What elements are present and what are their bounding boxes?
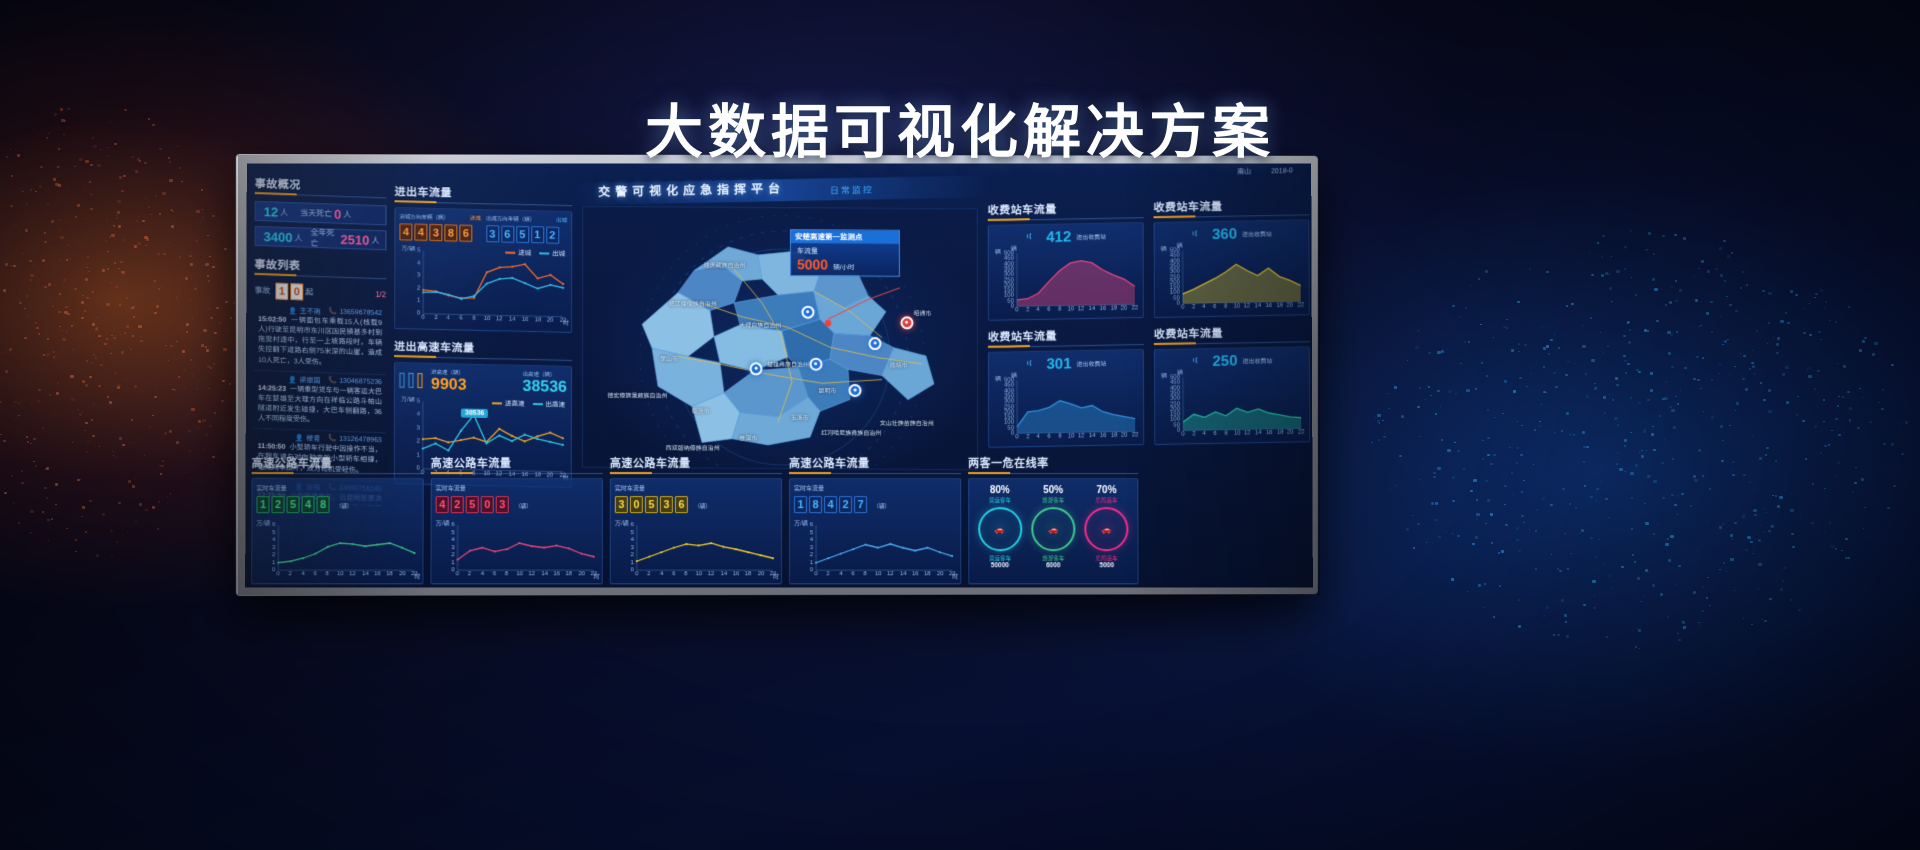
y-tick: 0 [1011,303,1014,309]
highway-out-value: 38536 [522,378,567,397]
y-tick: 0 [630,567,633,573]
highway-flow-sub: 实时车流量 [615,483,645,492]
digit: 8 [444,224,457,241]
accident-count-unit: 起 [305,286,313,297]
online-rate-gauge: 70% 危险品车 🚗 危险品车 5000 [1085,485,1129,577]
gauge-percent: 70% [1085,485,1129,496]
x-tick: 4 [481,571,484,577]
digit: 3 [496,496,509,513]
x-tick: 14 [1088,306,1095,312]
digit: 4 [399,223,412,240]
y-tick: 2 [272,552,275,558]
signal-icon [1025,358,1041,370]
toll-station-card: 250 进出收费站 辆 5004504003503002502001501005… [1154,346,1310,445]
y-unit: 万/辆 [256,518,270,527]
x-tick: 8 [326,571,329,577]
legend-item: 出城 [539,247,565,258]
y-unit: 辆 [995,247,1001,256]
y-tick: 1 [451,560,454,566]
x-tick: 16 [522,317,529,323]
gauge-count: 50000 [978,562,1022,569]
stat-row-today: 12 人 当天死亡 0 人 [255,201,387,225]
highway-flow-card: 实时车流量 18427 （辆） 654321002468101214161820… [789,478,961,584]
x-tick: 8 [472,316,475,322]
highway-flow-panel: 高速公路车流量 实时车流量 42503 （辆） 6543210024681012… [430,455,602,584]
toll-station-panel: 收费站车流量 360 进出收费站 辆 500450400350300250200… [1153,196,1309,317]
toll-station-card: 412 进出收费站 辆 5004504003503002502001501005… [988,222,1144,321]
x-tick: 4 [1202,304,1205,310]
toll-station-chart: 5004504003503002502001501005000246810121… [993,247,1139,317]
highway-flow-sub: 实时车流量 [436,483,466,492]
digit: 2 [546,227,559,244]
highway-flow-digits: 18427 （辆） [794,495,956,513]
digit: 1 [256,496,269,513]
x-tick: 16 [374,571,381,577]
map-label: 曲靖市 [890,360,908,369]
x-tick: 18 [1110,306,1117,312]
highway-flow-sub: 实时车流量 [794,483,824,492]
accident-count-row: 事故 10 起 1/2 [254,281,386,303]
in-out-flow-card: 进城方向车辆（辆） 进城 44386 出城方向车辆（辆） 出城 36512 [394,207,572,333]
toll-station-panel: 收费站车流量 250 进出收费站 辆 500450400350300250200… [1154,323,1310,445]
map-label: 德宏傣族景颇族自治州 [607,390,667,399]
x-tick: 8 [1058,307,1061,313]
x-axis: 0246810121416182022 [278,571,418,581]
x-tick: 20 [1121,432,1128,438]
x-tick: 14 [1089,433,1096,439]
highway-flow-card: 实时车流量 30536 （辆） 654321002468101214161820… [610,478,782,584]
x-tick: 2 [647,571,650,577]
map-label: 玉溪市 [791,412,809,421]
x-tick: 6 [493,571,496,577]
y-unit: 万/辆 [615,518,629,527]
x-tick: 12 [349,571,356,577]
screenshot-stage: 大数据可视化解决方案 交警可视化应急指挥平台 日常监控 南山 2018-0 事故… [0,0,1920,850]
gauge-percent: 80% [978,485,1022,496]
chart-legend: 进城出城 [505,247,565,258]
y-axis: 543210 [399,246,421,312]
digit: 8 [317,496,330,513]
metric-highway-in: 进高速（辆） 9903 [431,368,467,395]
year-injured-value: 3400 [264,229,293,245]
x-tick: 18 [535,317,542,323]
y-unit: 万/辆 [401,243,415,252]
toll-station-value: 301 [1046,355,1071,372]
x-tick: 12 [1243,303,1250,309]
x-tick: 10 [337,571,344,577]
toll-station-panel: 收费站车流量 301 进出收费站 辆 500450400350300250200… [988,326,1144,448]
x-tick: 0 [1181,304,1184,310]
x-tick: 10 [1068,433,1075,439]
x-tick: 4 [1203,431,1206,437]
x-tick: 0 [1182,431,1185,437]
highway-flow-card: 实时车流量 42503 （辆） 654321002468101214161820… [430,478,602,584]
toll-station-grid: 收费站车流量 412 进出收费站 辆 500450400350300250200… [988,196,1311,447]
toll-station-panel: 收费站车流量 412 进出收费站 辆 500450400350300250200… [988,199,1144,320]
curved-video-wall: 交警可视化应急指挥平台 日常监控 南山 2018-0 事故概况 12 人 当天死… [238,155,1320,595]
y-axis: 500450400350300250200150100500 [1159,373,1181,429]
x-tick: 2 [1026,307,1029,313]
y-tick: 5 [630,530,633,536]
x-tick: 16 [1099,306,1106,312]
province-map-svg [582,206,978,470]
accident-list-title: 事故列表 [254,256,386,279]
highway-flow-title: 高速公路车流量 [252,455,424,474]
toll-station-label: 进出收费站 [1242,356,1272,366]
toll-station-value: 360 [1212,226,1237,243]
y-tick: 3 [451,545,454,551]
map-tooltip: 安楚高速第一监测点 车流量 5000 辆/小时 [790,229,900,277]
toll-station-title: 收费站车流量 [1154,323,1310,345]
x-tick: 16 [1100,433,1107,439]
map-tooltip-value: 5000 [797,256,828,272]
online-rate-panel: 两客一危在线率 80% 营运客车 🚗 营运客车 50000 50% 旅游客车 🚗 [968,455,1138,584]
x-tick: 4 [839,571,842,577]
today-injured-unit: 人 [280,206,288,217]
highway-flow-panel: 高速公路车流量 实时车流量 18427 （辆） 6543210024681012… [789,455,961,584]
year-injured-unit: 人 [294,232,302,243]
highway-flow-digits: 42503 （辆） [436,495,598,513]
x-tick: 12 [1244,430,1251,436]
metric-in-tag: 进城 [470,214,481,222]
y-tick: 3 [630,545,633,551]
signal-icon [1191,229,1207,241]
y-tick: 4 [272,537,275,543]
y-tick: 4 [451,537,454,543]
x-tick: 6 [314,571,317,577]
gate-icon [399,371,425,390]
toll-station-title: 收费站车流量 [988,326,1144,348]
digit: 5 [466,496,479,513]
y-unit: 万/辆 [401,394,415,403]
online-rate-gauge: 50% 旅游客车 🚗 旅游客车 6000 [1031,485,1075,577]
x-tick: 0 [635,571,638,577]
x-tick: 12 [528,571,535,577]
y-axis: 500450400350300250200150100500 [993,376,1015,432]
digit: 6 [501,226,514,243]
x-unit: 时 [414,571,420,580]
y-tick: 0 [451,567,454,573]
toll-station-title: 收费站车流量 [1153,196,1309,218]
x-tick: 14 [900,571,907,577]
highway-flow-unit: （辆） [874,504,891,510]
x-tick: 18 [1276,303,1283,309]
y-tick: 5 [417,399,420,405]
x-tick: 16 [1265,303,1272,309]
x-tick: 14 [1254,303,1261,309]
legend-item: 进高速 [492,397,525,408]
x-tick: 2 [1026,434,1029,440]
highway-flow-title: 高速公路车流量 [610,455,782,474]
x-tick: 8 [1058,434,1061,440]
year-death-value: 2510 [341,231,370,247]
metric-out-digits: 36512 [486,224,567,244]
x-axis: 0246810121416182022 [457,571,597,581]
metric-out-label: 出城方向车辆（辆） [486,214,535,223]
y-tick: 5 [417,248,420,254]
x-tick: 4 [1036,434,1039,440]
x-tick: 6 [1214,431,1217,437]
signal-icon [1025,232,1041,244]
x-tick: 14 [509,317,516,323]
x-tick: 10 [1068,306,1075,312]
toll-station-chart: 5004504003503002502001501005000246810121… [1159,371,1305,442]
x-tick: 14 [1255,430,1262,436]
year-death-unit: 人 [371,234,379,245]
gauge-vehicle-icon: 🚗 [1087,509,1127,549]
x-tick: 4 [302,571,305,577]
map-marker-icon[interactable]: ● [900,317,913,330]
y-tick: 2 [417,286,420,292]
x-tick: 16 [912,571,919,577]
metric-out-tag: 出城 [556,216,567,224]
reporter-name: 👤 梁振国 [289,375,321,386]
digit: 6 [459,225,472,242]
digit: 5 [516,226,529,243]
digit: 3 [486,225,499,242]
bottom-row: 高速公路车流量 实时车流量 12548 （辆） 6543210024681012… [251,455,1305,584]
list-item-text: 15:02:50 一辆面包车乘载15人(核载9人)行驶至昆明市东川区因民镇基多村… [258,315,382,370]
in-out-flow-chart: 5432100246810121416182022万/辆时进城出城 [399,246,567,328]
online-rate-gauge: 80% 营运客车 🚗 营运客车 50000 [978,485,1022,577]
y-tick: 3 [272,545,275,551]
digit: 5 [286,496,299,513]
gauge-name-top: 旅游客车 [1031,496,1075,504]
x-tick: 16 [1266,430,1273,436]
x-tick: 10 [484,316,491,322]
x-tick: 4 [446,315,449,321]
y-tick: 4 [417,412,420,418]
y-axis: 500450400350300250200150100500 [1159,247,1181,303]
x-tick: 20 [399,571,406,577]
x-tick: 20 [578,571,585,577]
highway-in-out-title: 进出高速车流量 [394,338,572,361]
y-tick: 0 [272,567,275,573]
digit: 2 [839,496,852,513]
signal-icon [1191,355,1207,367]
map-panel[interactable]: 迪庆藏族自治州怒江傈僳族自治州丽江市大理白族自治州保山市德宏傣族景颇族自治州临沧… [582,206,978,470]
y-tick: 4 [810,537,813,543]
x-tick: 22 [1131,305,1138,311]
x-tick: 22 [1298,429,1305,435]
highway-flow-unit: （辆） [694,504,711,510]
digit: 4 [436,496,449,513]
map-label: 楚雄彝族自治州 [767,360,809,369]
x-tick: 2 [826,571,829,577]
x-tick: 22 [1297,302,1304,308]
x-tick: 12 [496,316,503,322]
x-tick: 4 [660,571,663,577]
metric-in-label: 进城方向车辆（辆） [399,212,448,221]
year-death-label: 全年死亡 [310,227,338,250]
y-tick: 5 [451,530,454,536]
x-tick: 10 [1233,303,1240,309]
map-tooltip-unit: 辆/小时 [833,261,854,271]
y-tick: 5 [810,530,813,536]
gauge-name-top: 危险品车 [1085,496,1129,504]
y-axis: 6543210 [792,521,814,569]
y-unit: 万/辆 [794,518,808,527]
dashboard-title: 交警可视化应急指挥平台 [598,180,785,201]
online-rate-title: 两客一危在线率 [968,455,1138,474]
highway-flow-unit: （辆） [515,504,532,510]
map-label: 昆明市 [819,386,837,395]
x-tick: 20 [547,317,554,323]
y-tick: 5 [272,530,275,536]
x-axis: 0246810121416182022 [816,571,956,581]
y-tick: 1 [810,560,813,566]
screen-surface: 交警可视化应急指挥平台 日常监控 南山 2018-0 事故概况 12 人 当天死… [245,163,1313,587]
digit: 0 [630,496,643,513]
stat-row-year: 3400 人 全年死亡 2510 人 [255,226,387,250]
toll-station-value: 250 [1212,352,1237,369]
y-tick: 3 [416,426,419,432]
toll-station-chart: 5004504003503002502001501005000246810121… [993,374,1139,445]
x-tick: 6 [1213,304,1216,310]
highway-flow-panel: 高速公路车流量 实时车流量 30536 （辆） 6543210024681012… [610,455,782,584]
x-tick: 0 [1015,434,1018,440]
y-unit: 万/辆 [436,518,450,527]
y-tick: 0 [810,567,813,573]
highway-flow-panel: 高速公路车流量 实时车流量 12548 （辆） 6543210024681012… [251,455,424,584]
page-title: 大数据可视化解决方案 [0,85,1920,169]
metric-out-city: 出城方向车辆（辆） 出城 36512 [486,214,567,244]
map-marker-icon[interactable]: ● [750,363,763,376]
x-tick: 10 [875,571,882,577]
y-axis: 500450400350300250200150100500 [993,249,1015,305]
x-tick: 14 [541,571,548,577]
map-label: 保山市 [660,354,678,363]
gauge-vehicle-icon: 🚗 [1033,509,1073,549]
y-unit: 辆 [1161,244,1167,253]
x-tick: 2 [1193,431,1196,437]
x-tick: 10 [696,571,703,577]
x-tick: 16 [553,571,560,577]
x-tick: 20 [1120,305,1127,311]
x-tick: 6 [1047,434,1050,440]
x-tick: 2 [434,315,437,321]
digit: 0 [481,496,494,513]
y-axis: 6543210 [613,521,635,569]
toll-station-title: 收费站车流量 [988,199,1144,221]
x-tick: 8 [863,571,866,577]
digit: 3 [660,496,673,513]
x-tick: 2 [1192,304,1195,310]
legend-item: 进城 [505,247,531,258]
map-marker-icon[interactable]: ● [869,337,882,350]
toll-station-label: 进出收费站 [1076,232,1106,242]
map-marker-icon[interactable]: ● [809,358,822,371]
x-axis: 0246810121416182022 [423,315,567,328]
digit: 4 [824,496,837,513]
y-tick: 3 [417,273,420,279]
y-unit: 辆 [995,374,1001,383]
x-tick: 20 [1287,429,1294,435]
y-tick: 4 [417,261,420,267]
map-tooltip-title: 安楚高速第一监测点 [791,230,899,244]
x-tick: 18 [745,571,752,577]
y-tick: 0 [1011,430,1014,436]
y-unit: 辆 [1161,371,1167,380]
list-item[interactable]: 👤 梁振国 📞 13046875236 14:25:23 一辆重型货车与一辆客运… [254,371,386,434]
y-tick: 2 [416,439,419,445]
x-unit: 时 [773,571,779,580]
digit: 4 [414,224,427,241]
y-tick: 2 [810,552,813,558]
x-tick: 0 [814,571,817,577]
digit: 3 [429,224,442,241]
highway-flow-title: 高速公路车流量 [431,455,603,474]
x-tick: 18 [386,571,393,577]
x-unit: 时 [563,318,569,327]
chart-tooltip: 38536 [461,409,488,419]
accident-overview-stats: 12 人 当天死亡 0 人 3400 人 全年死亡 2510 人 [255,201,387,250]
x-tick: 12 [887,571,894,577]
x-tick: 18 [565,571,572,577]
toll-station-card: 301 进出收费站 辆 5004504003503002502001501005… [988,349,1144,448]
metric-highway-out: 出高速（辆） 38536 [522,370,567,397]
toll-station-chart: 5004504003503002502001501005000246810121… [1159,244,1305,314]
today-death-label: 当天死亡 [300,207,332,219]
y-tick: 1 [417,298,420,304]
highway-flow-card: 实时车流量 12548 （辆） 654321002468101214161820… [251,478,424,584]
x-tick: 6 [672,571,675,577]
map-marker-icon[interactable]: ● [801,305,814,318]
x-unit: 时 [594,571,600,580]
column-in-out-flow: 进出车流量 进城方向车辆（辆） 进城 44386 出城方向车辆（辆） [394,183,573,488]
gauge-name: 危险品车 [1085,554,1129,562]
y-tick: 1 [630,560,633,566]
highway-flow-title: 高速公路车流量 [789,455,961,474]
x-axis: 0246810121416182022 [1183,429,1305,441]
list-item[interactable]: 👤 王不南 📞 13659678542 15:02:50 一辆面包车乘载15人(… [254,302,386,375]
x-axis: 0246810121416182022 [637,571,777,581]
x-tick: 6 [851,571,854,577]
y-tick: 2 [630,552,633,558]
x-tick: 18 [924,571,931,577]
x-tick: 18 [1277,430,1284,436]
gauge-name: 营运客车 [978,554,1022,562]
highway-flow-chart: 65432100246810121416182022万/辆时 [254,521,418,581]
x-tick: 18 [1111,433,1118,439]
map-label: 昭通市 [913,308,931,317]
x-tick: 14 [362,571,369,577]
y-tick: 6 [810,522,813,528]
x-tick: 20 [758,571,765,577]
y-tick: 2 [451,552,454,558]
metric-in-city: 进城方向车辆（辆） 进城 44386 [399,212,480,242]
map-marker-icon[interactable]: ● [849,384,862,397]
x-tick: 8 [1225,431,1228,437]
digit: 6 [675,496,688,513]
x-tick: 8 [1224,304,1227,310]
x-tick: 4 [1036,307,1039,313]
toll-station-card: 360 进出收费站 辆 5004504003503002502001501005… [1154,219,1310,318]
y-tick: 6 [272,522,275,528]
gauge-ring: 🚗 [978,507,1022,551]
x-axis: 0246810121416182022 [1017,305,1139,317]
gauge-count: 5000 [1085,562,1129,569]
gauge-ring: 🚗 [1085,507,1129,551]
gauge-name: 旅游客车 [1031,554,1075,562]
metric-in-digits: 44386 [399,222,480,242]
digit: 2 [271,496,284,513]
x-tick: 20 [937,571,944,577]
dashboard-mode[interactable]: 日常监控 [830,183,874,197]
highway-in-value: 9903 [431,376,467,395]
map-label: 西双版纳傣族自治州 [666,443,720,452]
toll-station-value: 412 [1046,229,1071,246]
